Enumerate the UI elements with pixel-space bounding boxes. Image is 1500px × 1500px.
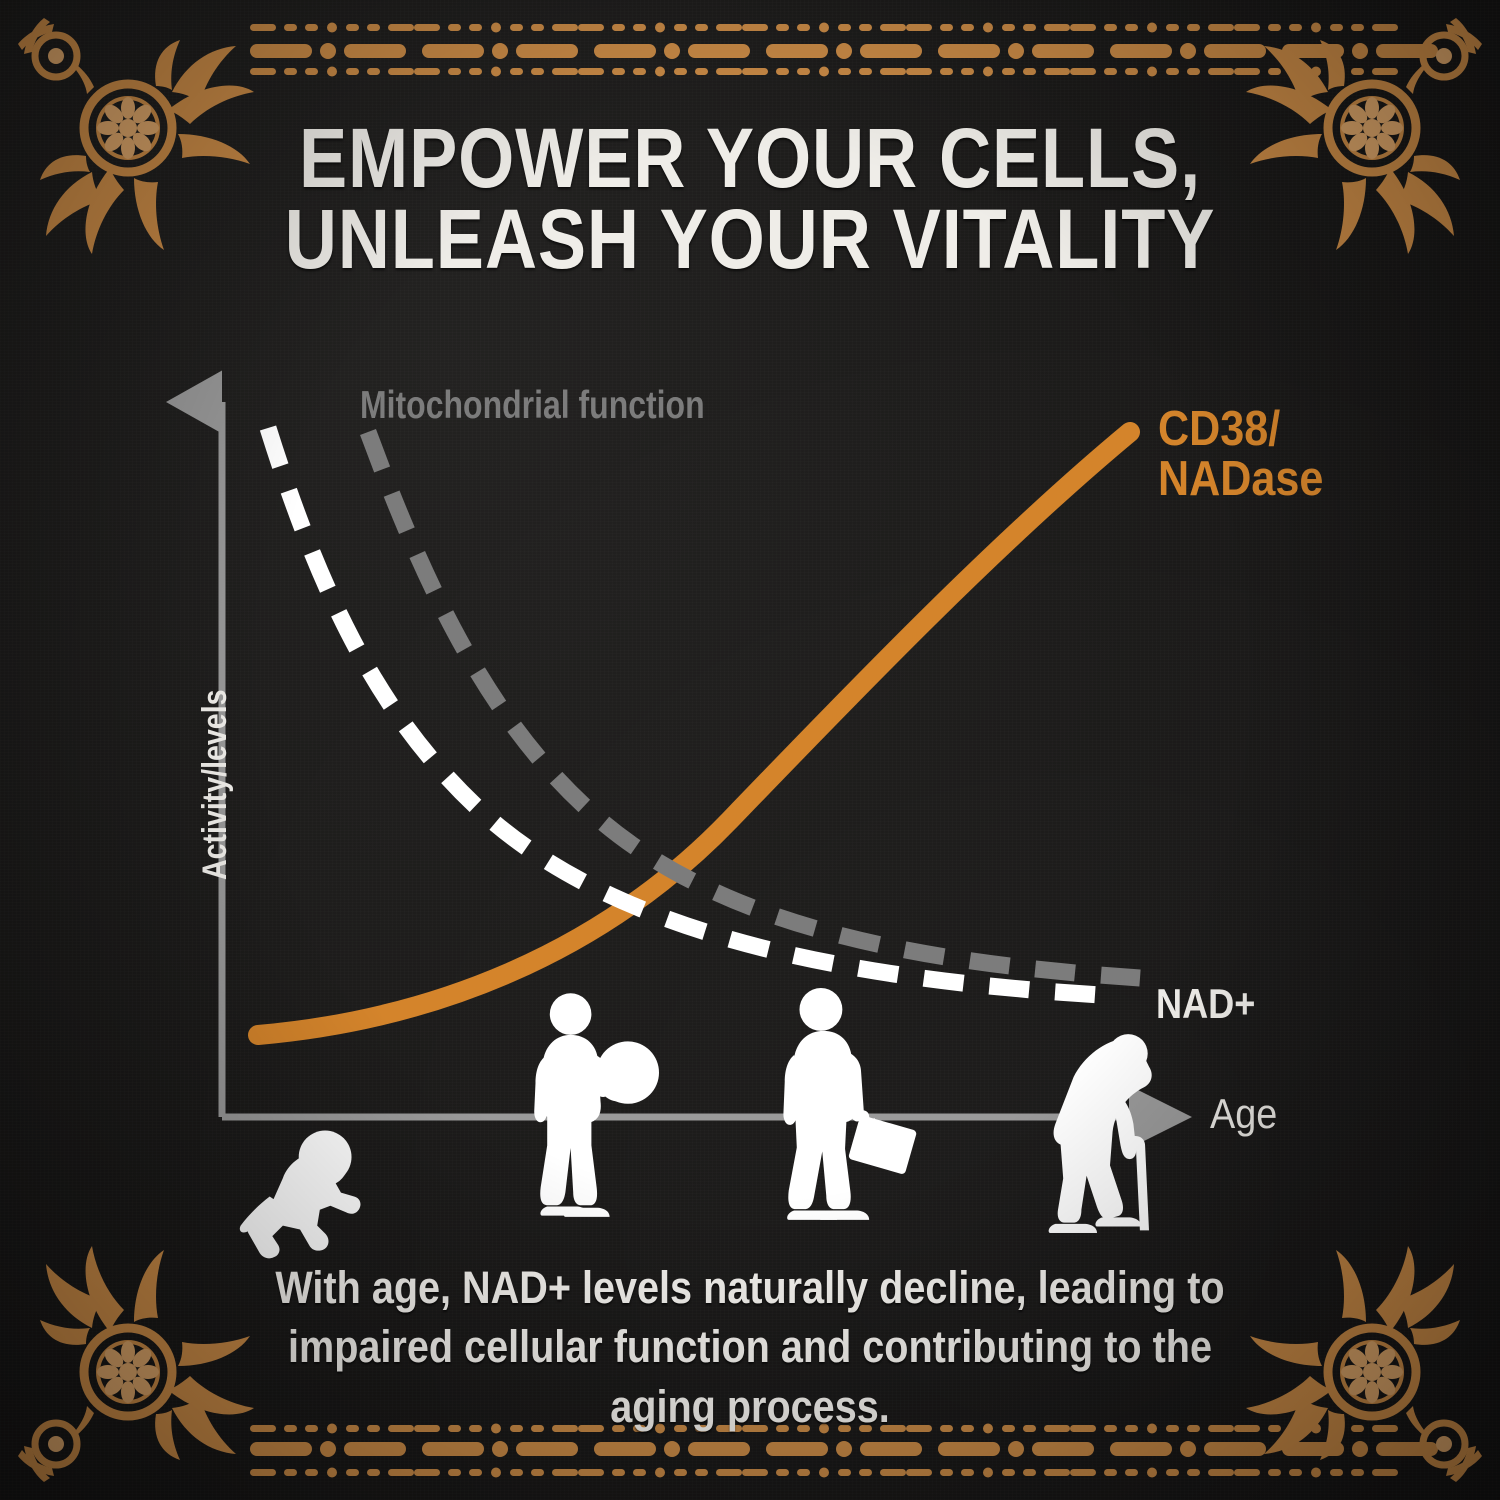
cd38-line-1: CD38/ <box>1158 402 1280 456</box>
cd38-nadase-label: CD38/ NADase <box>1158 404 1323 505</box>
boy-with-ball-silhouette <box>534 993 659 1217</box>
poster-root: EMPOWER YOUR CELLS, UNLEASH YOUR VITALIT… <box>0 0 1500 1500</box>
baby-crawling-silhouette <box>240 1131 361 1259</box>
nad-plus-label: NAD+ <box>1156 980 1255 1028</box>
cd38-line-2: NADase <box>1158 452 1323 506</box>
series-cd38-nadase-curve <box>258 432 1130 1035</box>
elderly-with-cane-silhouette <box>1049 1034 1152 1233</box>
age-axis-label: Age <box>1210 1090 1277 1138</box>
mitochondrial-function-label: Mitochondrial function <box>360 384 705 428</box>
caption-text: With age, NAD+ levels naturally decline,… <box>240 1258 1261 1436</box>
activity-levels-axis-label: Activity/levels <box>196 689 235 880</box>
adult-with-briefcase-silhouette <box>783 988 917 1220</box>
